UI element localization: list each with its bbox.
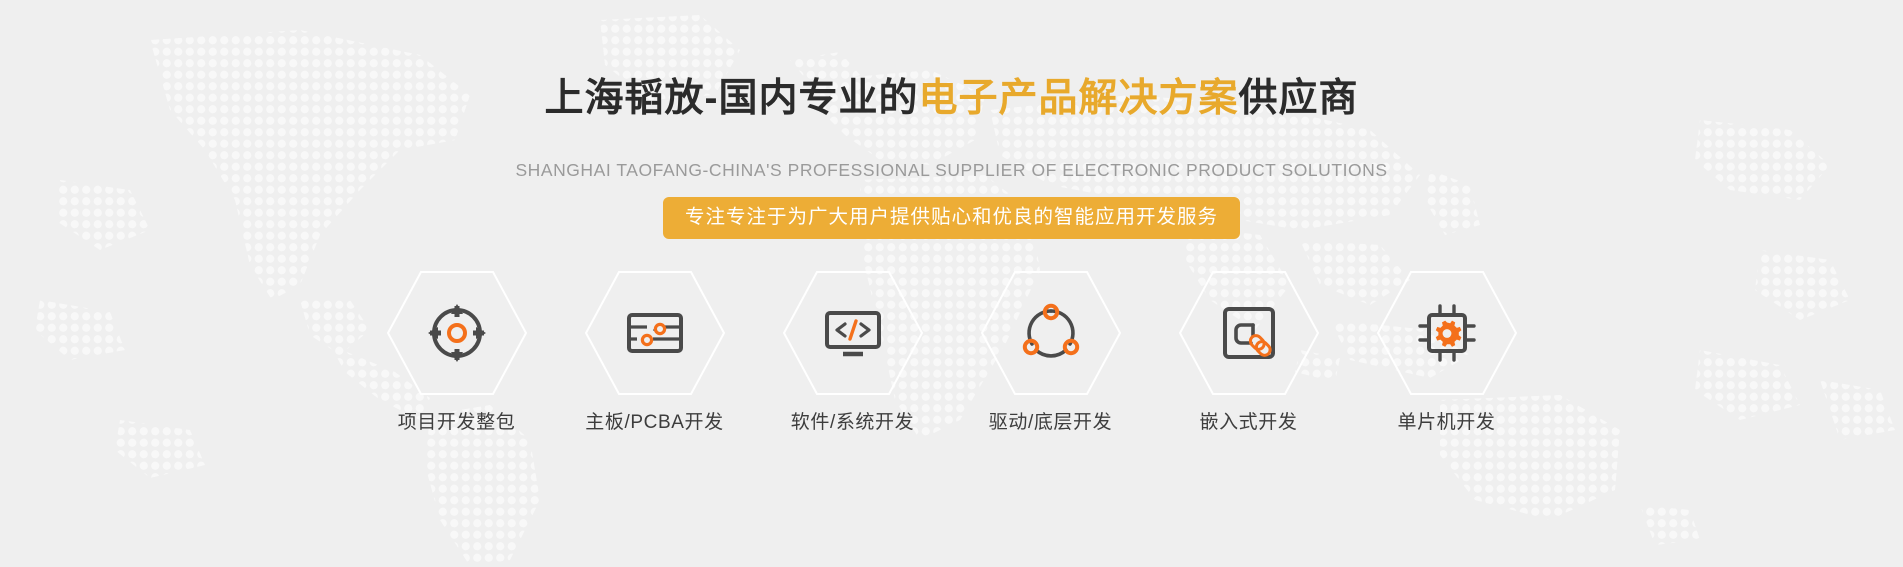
service-label-5: 嵌入式开发	[1199, 411, 1297, 435]
hexagon-frame-4	[979, 269, 1123, 397]
subtitle-english: SHANGHAI TAOFANG-CHINA'S PROFESSIONAL SU…	[515, 159, 1387, 181]
service-item-embedded[interactable]: 嵌入式开发	[1169, 269, 1329, 435]
node-ring-icon	[1019, 301, 1083, 365]
hexagon-frame-1	[385, 269, 529, 397]
pcb-board-icon	[623, 301, 687, 365]
page-title: 上海韬放-国内专业的电子产品解决方案供应商	[544, 76, 1358, 122]
hexagon-frame-3	[781, 269, 925, 397]
hero-banner: 上海韬放-国内专业的电子产品解决方案供应商 SHANGHAI TAOFANG-C…	[0, 0, 1903, 567]
service-item-software[interactable]: 软件/系统开发	[773, 269, 933, 435]
monitor-code-icon	[821, 301, 885, 365]
banner-content: 上海韬放-国内专业的电子产品解决方案供应商 SHANGHAI TAOFANG-C…	[0, 0, 1903, 567]
service-label-4: 驱动/底层开发	[989, 411, 1112, 435]
headline-accent: 电子产品解决方案	[918, 77, 1238, 120]
hexagon-frame-2	[583, 269, 727, 397]
service-label-2: 主板/PCBA开发	[585, 411, 723, 435]
service-list: 项目开发整包	[377, 269, 1527, 435]
hexagon-frame-5	[1177, 269, 1321, 397]
service-item-project-package[interactable]: 项目开发整包	[377, 269, 537, 435]
microchip-gear-icon	[1415, 301, 1479, 365]
crosshair-target-icon	[425, 301, 489, 365]
service-item-mcu[interactable]: 单片机开发	[1367, 269, 1527, 435]
service-label-1: 项目开发整包	[398, 411, 516, 435]
headline-part-1: 上海韬放-国内专业的	[544, 77, 918, 120]
service-item-driver[interactable]: 驱动/底层开发	[971, 269, 1131, 435]
service-label-6: 单片机开发	[1397, 411, 1495, 435]
hexagon-frame-6	[1375, 269, 1519, 397]
embedded-chip-link-icon	[1217, 301, 1281, 365]
tagline-pill-button[interactable]: 专注专注于为广大用户提供贴心和优良的智能应用开发服务	[663, 197, 1240, 239]
headline-part-2: 供应商	[1239, 77, 1359, 120]
service-label-3: 软件/系统开发	[791, 411, 914, 435]
service-item-pcba[interactable]: 主板/PCBA开发	[575, 269, 735, 435]
